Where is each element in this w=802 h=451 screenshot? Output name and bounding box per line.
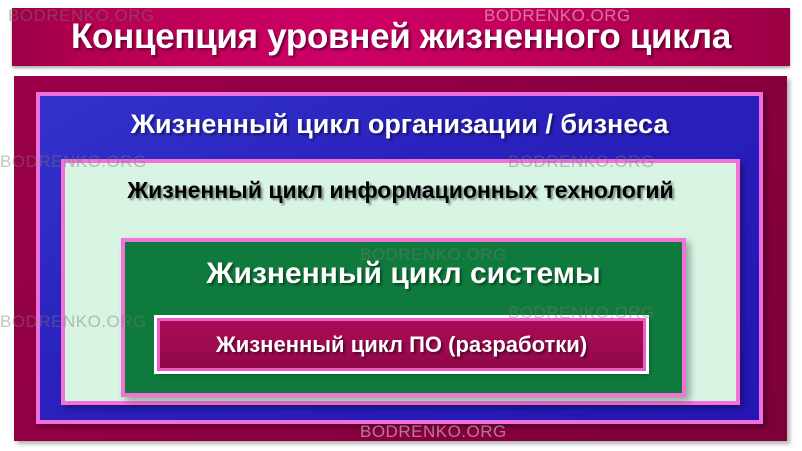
level-label-information-technologies: Жизненный цикл информационных технологий <box>127 177 673 204</box>
level-label-organisation-business: Жизненный цикл организации / бизнеса <box>131 109 669 140</box>
level-label-information-technologies-band: Жизненный цикл информационных технологий <box>65 169 736 211</box>
level-box-system: Жизненный цикл системы Жизненный цикл ПО… <box>121 238 686 397</box>
level-label-software-development: Жизненный цикл ПО (разработки) <box>216 332 587 358</box>
level-box-organisation-business: Жизненный цикл организации / бизнеса Жиз… <box>36 92 763 424</box>
slide-canvas: Концепция уровней жизненного цикла Жизне… <box>0 0 802 451</box>
level-label-system-band: Жизненный цикл системы <box>125 248 682 300</box>
level-frame-outer: Жизненный цикл организации / бизнеса Жиз… <box>14 76 787 441</box>
level-label-organisation-business-band: Жизненный цикл организации / бизнеса <box>40 100 759 148</box>
level-box-information-technologies: Жизненный цикл информационных технологий… <box>61 159 740 405</box>
page-title: Концепция уровней жизненного цикла <box>71 17 731 57</box>
slide-title-banner: Концепция уровней жизненного цикла <box>12 8 790 66</box>
level-box-software-development: Жизненный цикл ПО (разработки) <box>157 318 646 371</box>
level-label-system: Жизненный цикл системы <box>206 257 600 291</box>
